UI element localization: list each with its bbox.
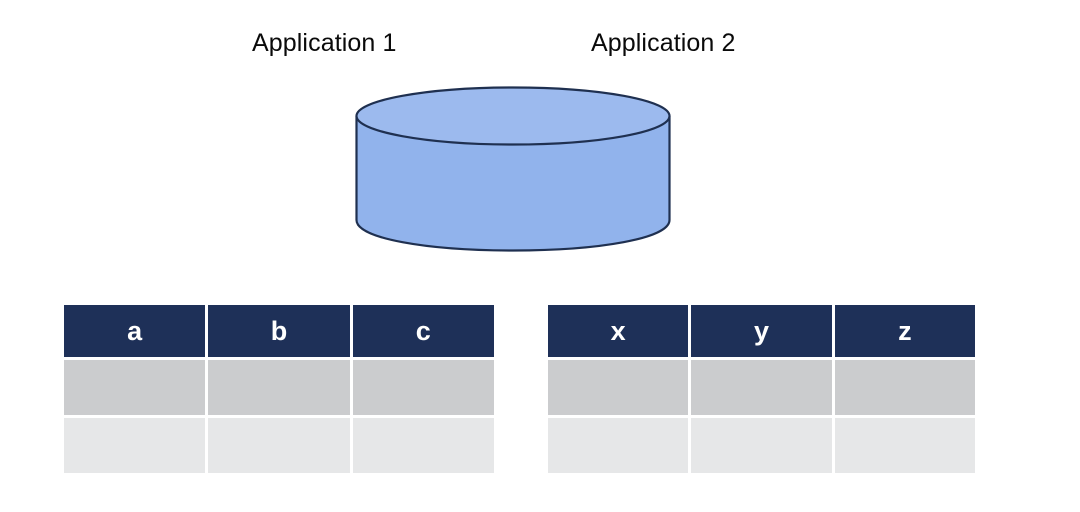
table-left-header-cell-a[interactable]: a: [64, 305, 205, 357]
table-right-cell-2-3: [835, 418, 975, 473]
application-2-label: Application 2: [591, 31, 735, 56]
table-right-row-1: [548, 360, 975, 415]
table-left-cell-1-2: [208, 360, 349, 415]
table-left-header-cell-b[interactable]: b: [208, 305, 349, 357]
table-left-header-cell-c[interactable]: c: [353, 305, 494, 357]
table-left-row-2: [64, 418, 494, 473]
table-right-header-row: x y z: [548, 305, 975, 357]
table-right-row-2: [548, 418, 975, 473]
table-left-cell-1-3: [353, 360, 494, 415]
application-1-label: Application 1: [252, 31, 396, 56]
table-right-header-cell-z[interactable]: z: [835, 305, 975, 357]
table-left-cell-1-1: [64, 360, 205, 415]
table-left-cell-2-2: [208, 418, 349, 473]
table-left-cell-2-1: [64, 418, 205, 473]
table-right-cell-1-1: [548, 360, 688, 415]
table-right-header-cell-y[interactable]: y: [691, 305, 831, 357]
table-right: x y z: [548, 305, 975, 473]
table-left-header-row: a b c: [64, 305, 494, 357]
database-cylinder-icon: [355, 86, 671, 252]
table-right-header-cell-x[interactable]: x: [548, 305, 688, 357]
table-right-cell-2-1: [548, 418, 688, 473]
table-right-cell-1-2: [691, 360, 831, 415]
table-right-cell-1-3: [835, 360, 975, 415]
table-right-cell-2-2: [691, 418, 831, 473]
diagram-canvas: Application 1 Application 2 a b c: [0, 0, 1080, 512]
table-left: a b c: [64, 305, 494, 473]
table-left-row-1: [64, 360, 494, 415]
table-left-cell-2-3: [353, 418, 494, 473]
